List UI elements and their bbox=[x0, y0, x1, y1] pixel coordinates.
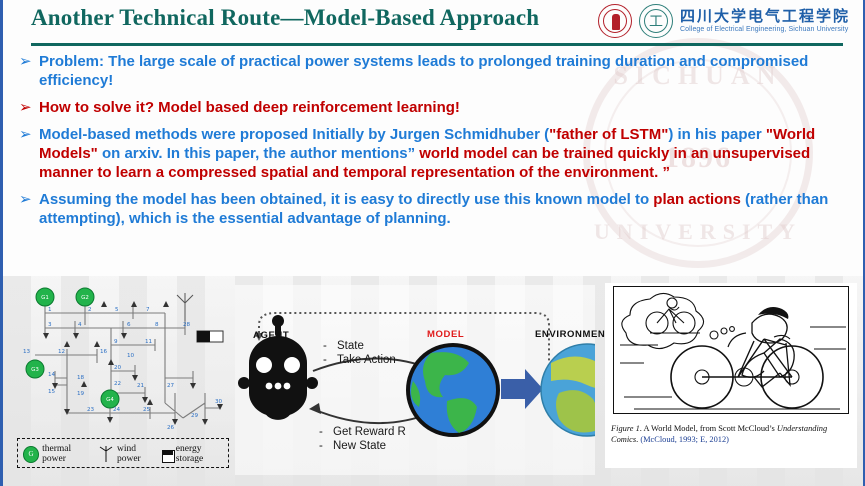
comic-panel bbox=[613, 286, 849, 414]
title-divider bbox=[31, 43, 843, 46]
thought-bubble bbox=[622, 293, 704, 348]
svg-text:21: 21 bbox=[137, 383, 145, 389]
slide-canvas: SICHUAN 1896 UNIVERSITY Another Technica… bbox=[0, 0, 865, 486]
bullet-segment: "father of LSTM" bbox=[549, 126, 668, 143]
bullet-marker-icon: ➢ bbox=[19, 190, 32, 209]
svg-text:2: 2 bbox=[88, 307, 92, 313]
svg-text:22: 22 bbox=[114, 381, 121, 387]
slide-header: Another Technical Route—Model-Based Appr… bbox=[3, 0, 865, 52]
bullet-list: ➢Problem: The large scale of practical p… bbox=[3, 52, 865, 236]
dash-glyph: - bbox=[323, 353, 337, 367]
generator-icon: G bbox=[23, 446, 39, 463]
bullet-text: Problem: The large scale of practical po… bbox=[39, 52, 865, 90]
dash-glyph: - bbox=[323, 339, 337, 353]
power-system-diagram: G1G2 G3G4 125 734 6828 91110 131216 1415… bbox=[15, 283, 230, 483]
svg-text:20: 20 bbox=[114, 365, 122, 371]
svg-text:1: 1 bbox=[48, 307, 52, 313]
legend-label-wind: wind power bbox=[117, 444, 159, 464]
svg-text:12: 12 bbox=[58, 349, 65, 355]
bullet-segment: Problem: The large scale of practical po… bbox=[39, 53, 808, 89]
svg-text:8: 8 bbox=[155, 322, 159, 328]
figure-caption: Figure 1. A World Model, from Scott McCl… bbox=[611, 423, 851, 445]
bullet-segment: How to solve it? Model based deep reinfo… bbox=[39, 99, 460, 116]
svg-text:10: 10 bbox=[127, 353, 135, 359]
svg-text:5: 5 bbox=[115, 307, 119, 313]
svg-text:30: 30 bbox=[215, 399, 223, 405]
institution-logo-group: 四川大学电气工程学院 College of Electrical Enginee… bbox=[598, 4, 850, 38]
svg-text:13: 13 bbox=[23, 349, 31, 355]
bullet-segment: Model-based methods were proposed Initia… bbox=[39, 126, 549, 143]
caption-segment: (McCloud, 1993; E, 2012) bbox=[640, 435, 729, 444]
bullet-marker-icon: ➢ bbox=[19, 125, 32, 144]
institution-name-block: 四川大学电气工程学院 College of Electrical Enginee… bbox=[680, 9, 850, 34]
bullet-item: ➢Model-based methods were proposed Initi… bbox=[3, 125, 865, 182]
grid-svg: G1G2 G3G4 125 734 6828 91110 131216 1415… bbox=[15, 283, 230, 438]
grid-legend-items: G thermal power wind power energy storag… bbox=[23, 444, 228, 464]
return-item-reward: Get Reward R bbox=[333, 426, 406, 438]
bullet-segment: plan actions bbox=[653, 191, 741, 208]
dash-glyph: - bbox=[319, 439, 333, 453]
svg-text:11: 11 bbox=[145, 339, 153, 345]
college-emblem-icon bbox=[639, 4, 673, 38]
bullet-segment: Assuming the model has been obtained, it… bbox=[39, 191, 653, 208]
bullet-segment: on arxiv. In this paper, the author ment… bbox=[98, 145, 419, 162]
page-title: Another Technical Route—Model-Based Appr… bbox=[31, 5, 539, 31]
svg-text:7: 7 bbox=[146, 307, 150, 313]
svg-text:25: 25 bbox=[143, 407, 151, 413]
svg-text:G4: G4 bbox=[106, 397, 114, 403]
bullet-item: ➢How to solve it? Model based deep reinf… bbox=[3, 98, 865, 117]
bullet-text: How to solve it? Model based deep reinfo… bbox=[39, 98, 865, 117]
caption-segment: Figure 1 bbox=[611, 424, 640, 433]
svg-text:14: 14 bbox=[48, 372, 56, 378]
return-item-newstate: New State bbox=[333, 440, 386, 452]
university-emblem-icon bbox=[598, 4, 632, 38]
world-model-comic-figure: Figure 1. A World Model, from Scott McCl… bbox=[605, 283, 857, 468]
grid-legend: G thermal power wind power energy storag… bbox=[17, 438, 229, 468]
figure-row: G1G2 G3G4 125 734 6828 91110 131216 1415… bbox=[3, 283, 865, 486]
bullet-segment: ) in his paper bbox=[668, 126, 766, 143]
svg-text:9: 9 bbox=[114, 339, 118, 345]
svg-text:18: 18 bbox=[77, 375, 85, 381]
dash-glyph: - bbox=[319, 425, 333, 439]
bullet-text: Assuming the model has been obtained, it… bbox=[39, 190, 865, 228]
institution-name-cn: 四川大学电气工程学院 bbox=[680, 9, 850, 25]
legend-label-thermal: thermal power bbox=[42, 444, 94, 464]
svg-text:6: 6 bbox=[127, 322, 131, 328]
forward-item-action: Take Action bbox=[337, 354, 396, 366]
legend-label-storage: energy storage bbox=[176, 444, 228, 464]
forward-items: -State -Take Action bbox=[323, 339, 396, 367]
svg-text:26: 26 bbox=[167, 425, 175, 431]
svg-text:G3: G3 bbox=[31, 367, 39, 373]
caption-segment: . A World Model, from Scott McCloud’s bbox=[640, 424, 777, 433]
bullet-text: Model-based methods were proposed Initia… bbox=[39, 125, 865, 182]
rl-loop-diagram: AGENT MODEL ENVIRONMENT -State -Take Act… bbox=[235, 285, 595, 475]
institution-name-en: College of Electrical Engineering, Sichu… bbox=[680, 26, 850, 33]
svg-text:19: 19 bbox=[77, 391, 85, 397]
svg-text:29: 29 bbox=[191, 413, 199, 419]
model-globe-icon bbox=[408, 345, 498, 435]
environment-label: ENVIRONMENT bbox=[535, 329, 612, 340]
bullet-item: ➢Assuming the model has been obtained, i… bbox=[3, 190, 865, 228]
svg-text:28: 28 bbox=[183, 322, 191, 328]
svg-text:3: 3 bbox=[48, 322, 52, 328]
model-label: MODEL bbox=[427, 329, 464, 340]
bullet-marker-icon: ➢ bbox=[19, 52, 32, 71]
cyclist-illustration bbox=[614, 287, 849, 414]
svg-text:G1: G1 bbox=[41, 295, 49, 301]
agent-label: AGENT bbox=[253, 330, 289, 341]
svg-text:27: 27 bbox=[167, 383, 175, 389]
bullet-item: ➢Problem: The large scale of practical p… bbox=[3, 52, 865, 90]
environment-arrow-icon bbox=[501, 369, 543, 409]
svg-text:24: 24 bbox=[113, 407, 121, 413]
svg-text:4: 4 bbox=[78, 322, 82, 328]
svg-text:23: 23 bbox=[87, 407, 95, 413]
environment-globe-icon bbox=[541, 344, 595, 436]
svg-text:G2: G2 bbox=[81, 295, 89, 301]
svg-text:16: 16 bbox=[100, 349, 108, 355]
forward-item-state: State bbox=[337, 340, 364, 352]
svg-text:15: 15 bbox=[48, 389, 56, 395]
wind-turbine-icon bbox=[97, 445, 114, 463]
bullet-marker-icon: ➢ bbox=[19, 98, 32, 117]
rl-svg bbox=[235, 285, 595, 475]
return-items: -Get Reward R -New State bbox=[319, 425, 406, 453]
battery-icon bbox=[162, 448, 172, 461]
